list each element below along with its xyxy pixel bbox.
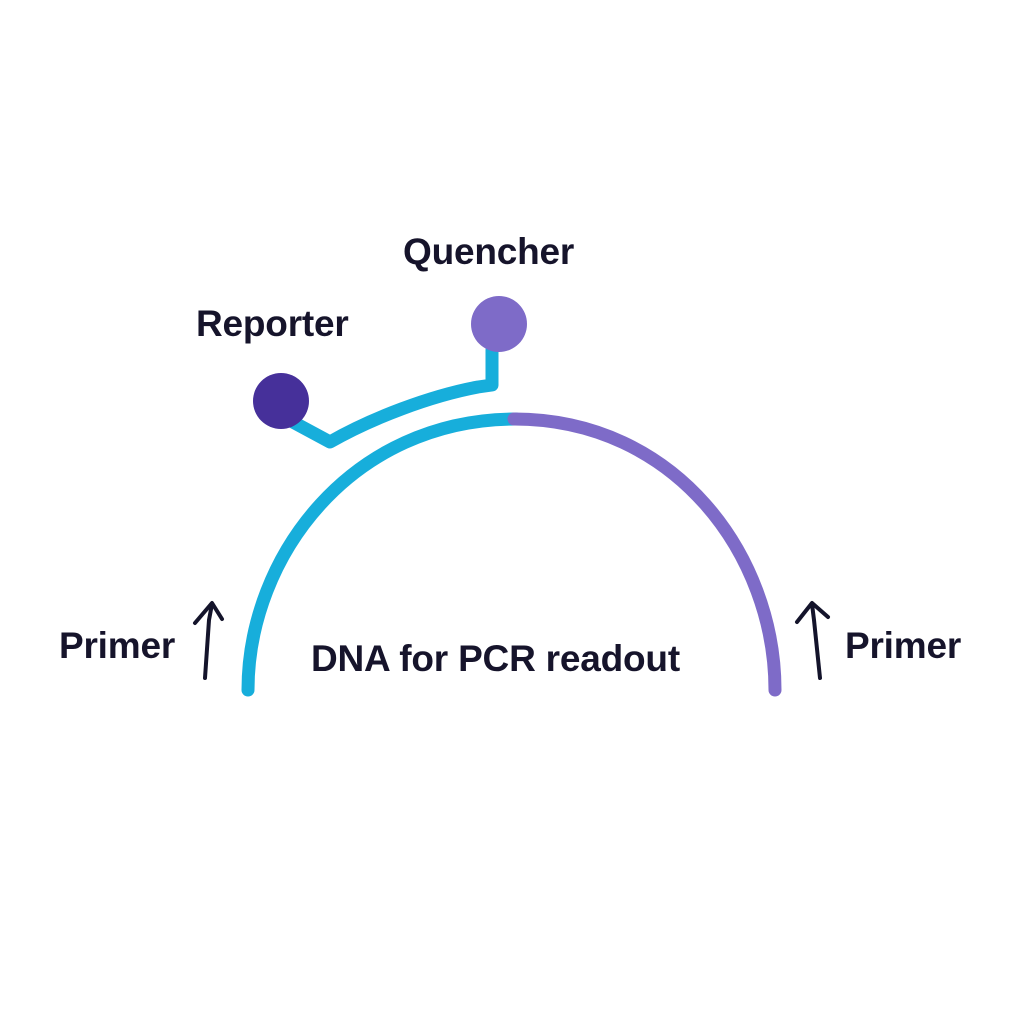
primer-left-arrow-icon — [195, 603, 222, 678]
reporter-label: Reporter — [196, 305, 349, 342]
primer-right-arrow-icon — [797, 603, 828, 678]
quencher-label: Quencher — [403, 233, 574, 270]
diagram-canvas: Quencher Reporter DNA for PCR readout Pr… — [0, 0, 1024, 1024]
reporter-dot-icon — [253, 373, 309, 429]
dna-readout-label: DNA for PCR readout — [311, 640, 680, 677]
primer-left-label: Primer — [59, 627, 175, 664]
primer-right-label: Primer — [845, 627, 961, 664]
quencher-dot-icon — [471, 296, 527, 352]
diagram-graphics — [0, 0, 1024, 1024]
